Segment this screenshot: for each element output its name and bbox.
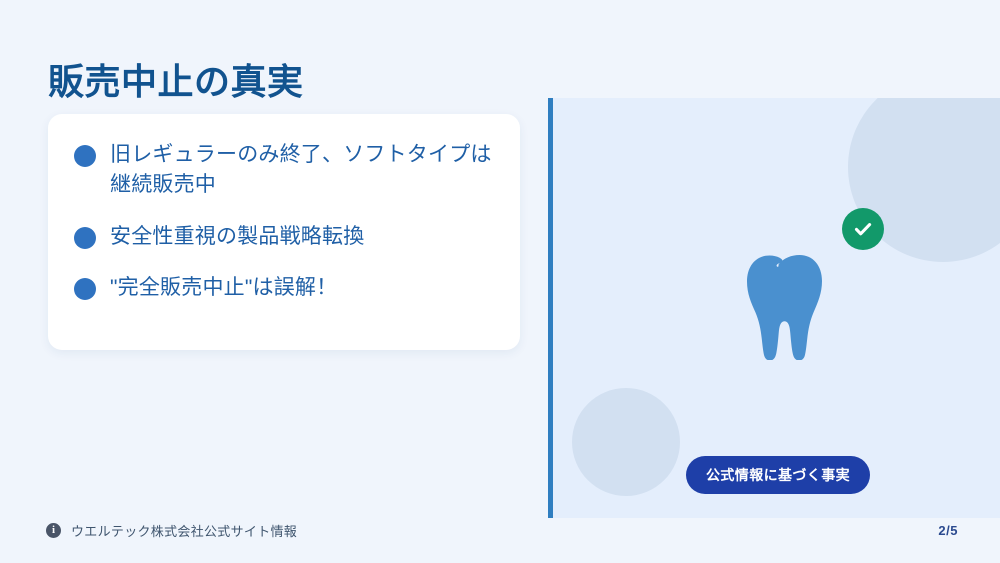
page-number: 2/5: [938, 523, 958, 538]
decorative-circle-bottom-left: [572, 388, 680, 496]
bullet-text: "完全販売中止"は誤解！: [110, 273, 337, 303]
footer-source-text: ウエルテック株式会社公式サイト情報: [71, 521, 297, 540]
status-badge: 公式情報に基づく事実: [686, 456, 870, 494]
visual-panel: 公式情報に基づく事実: [548, 98, 1000, 518]
bullet-list: 旧レギュラーのみ終了、ソフトタイプは継続販売中 安全性重視の製品戦略転換 "完全…: [74, 140, 494, 303]
list-item: 旧レギュラーのみ終了、ソフトタイプは継続販売中: [74, 140, 494, 200]
footer: i ウエルテック株式会社公式サイト情報 2/5: [0, 521, 1000, 545]
info-icon: i: [46, 523, 61, 538]
panel-accent-bar: [548, 98, 553, 518]
list-item: "完全販売中止"は誤解！: [74, 273, 494, 303]
bullet-dot-icon: [74, 278, 96, 300]
list-item: 安全性重視の製品戦略転換: [74, 222, 494, 252]
bullet-dot-icon: [74, 145, 96, 167]
bullet-text: 旧レギュラーのみ終了、ソフトタイプは継続販売中: [110, 140, 494, 200]
footer-source: i ウエルテック株式会社公式サイト情報: [46, 521, 297, 540]
slide-root: 販売中止の真実 旧レギュラーのみ終了、ソフトタイプは継続販売中 安全性重視の製品…: [0, 0, 1000, 563]
bullet-dot-icon: [74, 227, 96, 249]
bullet-text: 安全性重視の製品戦略転換: [110, 222, 364, 252]
tooth-icon: [734, 254, 822, 360]
page-title: 販売中止の真実: [48, 60, 304, 103]
key-points-card: 旧レギュラーのみ終了、ソフトタイプは継続販売中 安全性重視の製品戦略転換 "完全…: [48, 114, 520, 350]
check-circle-icon: [842, 208, 884, 250]
